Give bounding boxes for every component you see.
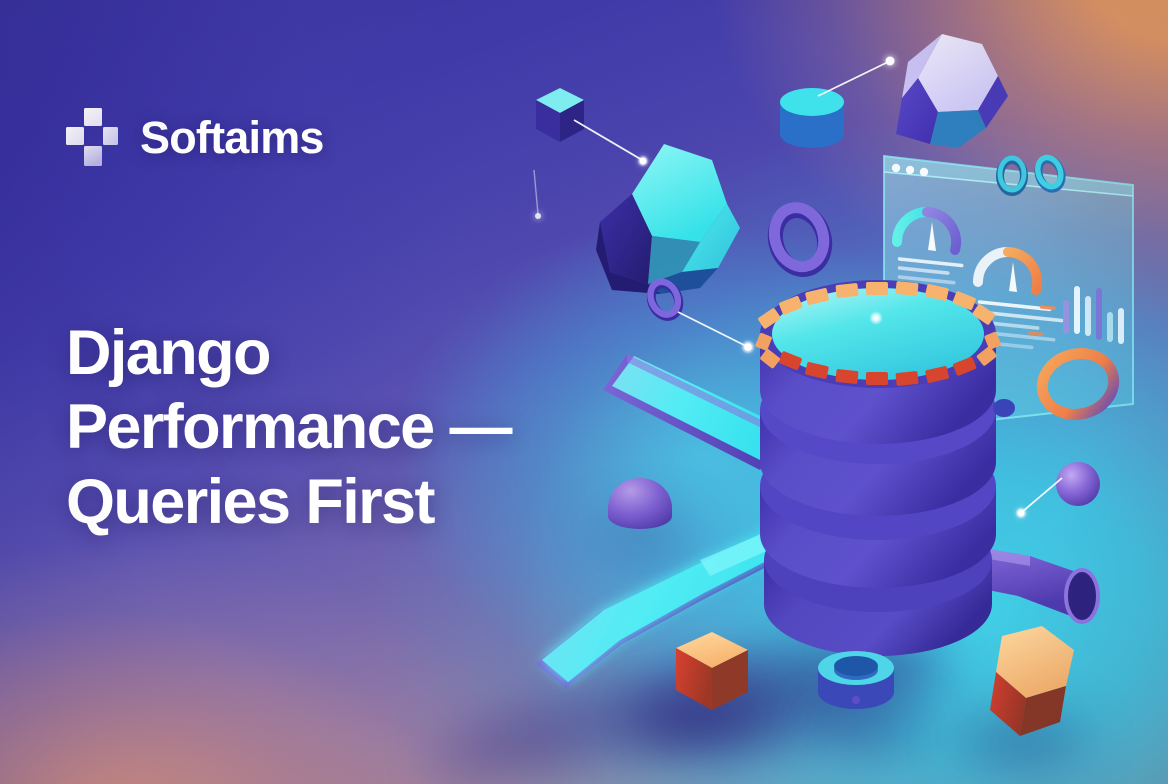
- plus-cross-squares-logo-icon: [66, 108, 118, 166]
- window-dot-3: [920, 168, 928, 176]
- connector-line-node-1: [818, 57, 895, 97]
- dodecahedron-cyan: [596, 144, 740, 294]
- dot-purple-small: [852, 696, 860, 704]
- sphere-blue-small: [993, 399, 1015, 417]
- window-dot-1: [892, 164, 900, 172]
- headline-line-1: Django: [66, 316, 656, 390]
- glow-accent-panel: [869, 311, 883, 325]
- window-dot-2: [906, 166, 914, 174]
- page-title: Django Performance — Queries First: [66, 316, 656, 539]
- brand-name: Softaims: [140, 115, 324, 160]
- hero-banner: Softaims Django Performance — Queries Fi…: [0, 0, 1168, 784]
- torus-purple-large: [767, 201, 832, 276]
- connector-line-node-3: [678, 312, 755, 354]
- headline-line-3: Queries First: [66, 465, 656, 539]
- cube-orange-red: [676, 632, 748, 710]
- hexagonal-prism-orange: [990, 626, 1074, 736]
- brand-lockup[interactable]: Softaims: [66, 108, 324, 166]
- connector-line-node-4: [1015, 478, 1062, 519]
- headline-line-2: Performance —: [66, 390, 656, 464]
- cube-small-cyan: [536, 88, 584, 142]
- cylinder-disc-cyan: [780, 88, 844, 148]
- connector-line-node-5: [534, 170, 541, 219]
- connector-line-node-2: [574, 120, 649, 167]
- sphere-purple: [1056, 462, 1100, 506]
- database-cylinder-stack: [755, 280, 1002, 656]
- dodecahedron-purple: [896, 34, 1008, 148]
